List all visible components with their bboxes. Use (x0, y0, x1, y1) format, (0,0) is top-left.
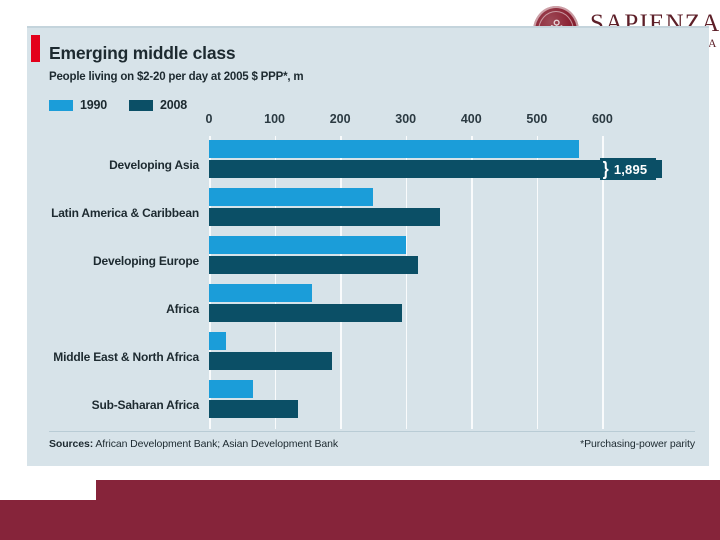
legend-label: 1990 (80, 98, 107, 112)
chart-title: Emerging middle class (49, 43, 235, 64)
bar-1990 (209, 188, 373, 206)
bar-2008 (209, 400, 298, 418)
footer-divider (49, 431, 695, 432)
category-label: Sub-Saharan Africa (92, 398, 199, 412)
x-axis-tick-label: 500 (526, 112, 547, 126)
legend-item-2008: 2008 (129, 98, 187, 112)
category-label: Africa (166, 302, 199, 316)
bar-2008 (209, 352, 332, 370)
category-label: Developing Asia (109, 158, 199, 172)
gridline-200 (340, 136, 342, 429)
sources-prefix: Sources: (49, 438, 93, 450)
sources-text: Sources: African Development Bank; Asian… (49, 438, 338, 450)
x-axis-tick-label: 200 (330, 112, 351, 126)
plot-area: 0100200300400500600Developing Asia}1,895… (209, 136, 709, 429)
figure-top-rule (27, 26, 709, 28)
bar-2008 (209, 304, 402, 322)
bar-1990 (209, 332, 226, 350)
category-label: Latin America & Caribbean (51, 206, 199, 220)
x-axis-tick-label: 400 (461, 112, 482, 126)
footer-band-lower (0, 500, 720, 540)
gridline-400 (471, 136, 473, 429)
legend-swatch-icon (129, 100, 153, 111)
bar-2008 (209, 208, 440, 226)
axis-break-icon: } (603, 160, 609, 179)
bar-1990 (209, 140, 579, 158)
x-axis-tick-label: 600 (592, 112, 613, 126)
ppp-footnote: *Purchasing-power parity (580, 438, 695, 450)
x-axis-tick-label: 0 (206, 112, 213, 126)
bar-1990 (209, 284, 312, 302)
category-label: Developing Europe (93, 254, 199, 268)
x-axis-tick-label: 300 (395, 112, 416, 126)
gridline-300 (406, 136, 408, 429)
legend-swatch-icon (49, 100, 73, 111)
gridline-100 (275, 136, 277, 429)
value-callout-1895: }1,895 (600, 158, 656, 180)
red-accent-bar (31, 35, 40, 62)
slide-canvas: ⚘ Sapienza Università di Roma Emerging m… (0, 0, 720, 540)
chart-legend: 19902008 (49, 98, 187, 112)
gridline-500 (537, 136, 539, 429)
category-label: Middle East & North Africa (53, 350, 199, 364)
chart-subtitle: People living on $2-20 per day at 2005 $… (49, 71, 303, 83)
callout-value-label: 1,895 (614, 162, 648, 177)
bar-1990 (209, 236, 406, 254)
chart-figure-panel: Emerging middle class People living on $… (27, 26, 709, 466)
bar-2008 (209, 256, 418, 274)
legend-label: 2008 (160, 98, 187, 112)
x-axis-tick-label: 100 (264, 112, 285, 126)
bar-2008 (209, 160, 662, 178)
bar-1990 (209, 380, 253, 398)
legend-item-1990: 1990 (49, 98, 107, 112)
